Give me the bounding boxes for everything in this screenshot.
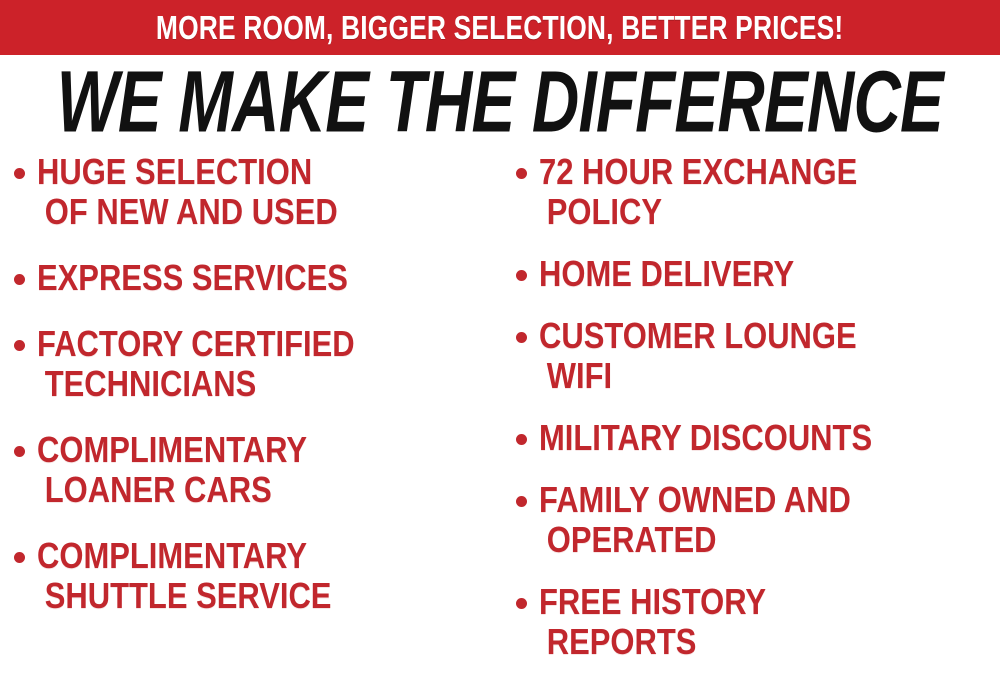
feature-item-text: COMPLIMENTARYLOANER CARS xyxy=(37,430,506,510)
feature-item-line: POLICY xyxy=(539,192,935,232)
feature-item-line: HOME DELIVERY xyxy=(539,254,935,294)
feature-item: 72 HOUR EXCHANGEPOLICY xyxy=(516,152,1000,232)
feature-item-line: COMPLIMENTARY xyxy=(37,430,440,470)
headline-container: WE MAKE THE DIFFERENCE xyxy=(0,60,1000,145)
feature-item-text: MILITARY DISCOUNTS xyxy=(539,418,1000,458)
top-promo-banner: MORE ROOM, BIGGER SELECTION, BETTER PRIC… xyxy=(0,0,1000,55)
feature-item: MILITARY DISCOUNTS xyxy=(516,418,1000,458)
feature-item: EXPRESS SERVICES xyxy=(14,258,506,298)
features-columns: HUGE SELECTIONOF NEW AND USEDEXPRESS SER… xyxy=(0,152,1000,694)
feature-item-line: CUSTOMER LOUNGE xyxy=(539,316,935,356)
feature-item: FACTORY CERTIFIEDTECHNICIANS xyxy=(14,324,506,404)
feature-item: HUGE SELECTIONOF NEW AND USED xyxy=(14,152,506,232)
feature-item-line: FAMILY OWNED AND xyxy=(539,480,935,520)
bullet-dot-icon xyxy=(14,552,25,563)
feature-item-line: REPORTS xyxy=(539,622,935,662)
feature-item-text: EXPRESS SERVICES xyxy=(37,258,506,298)
feature-item-text: FACTORY CERTIFIEDTECHNICIANS xyxy=(37,324,506,404)
feature-item-line: SHUTTLE SERVICE xyxy=(37,576,440,616)
feature-item-text: FAMILY OWNED ANDOPERATED xyxy=(539,480,1000,560)
feature-item: HOME DELIVERY xyxy=(516,254,1000,294)
feature-item: COMPLIMENTARYLOANER CARS xyxy=(14,430,506,510)
feature-item-line: OF NEW AND USED xyxy=(37,192,440,232)
feature-item-line: HUGE SELECTION xyxy=(37,152,440,192)
bullet-dot-icon xyxy=(516,598,527,609)
feature-item-text: FREE HISTORYREPORTS xyxy=(539,582,1000,662)
feature-item-line: MILITARY DISCOUNTS xyxy=(539,418,935,458)
bullet-dot-icon xyxy=(516,434,527,445)
feature-item-text: CUSTOMER LOUNGEWIFI xyxy=(539,316,1000,396)
main-headline: WE MAKE THE DIFFERENCE xyxy=(57,59,943,146)
bullet-dot-icon xyxy=(516,496,527,507)
features-column-left: HUGE SELECTIONOF NEW AND USEDEXPRESS SER… xyxy=(14,152,506,642)
feature-item-line: OPERATED xyxy=(539,520,935,560)
feature-item: FREE HISTORYREPORTS xyxy=(516,582,1000,662)
feature-item-text: HOME DELIVERY xyxy=(539,254,1000,294)
feature-item: CUSTOMER LOUNGEWIFI xyxy=(516,316,1000,396)
feature-item-text: COMPLIMENTARYSHUTTLE SERVICE xyxy=(37,536,506,616)
bullet-dot-icon xyxy=(14,274,25,285)
top-promo-banner-text: MORE ROOM, BIGGER SELECTION, BETTER PRIC… xyxy=(156,11,843,44)
feature-item: COMPLIMENTARYSHUTTLE SERVICE xyxy=(14,536,506,616)
feature-item-line: EXPRESS SERVICES xyxy=(37,258,440,298)
features-column-right: 72 HOUR EXCHANGEPOLICYHOME DELIVERYCUSTO… xyxy=(516,152,1000,684)
feature-item-line: TECHNICIANS xyxy=(37,364,440,404)
feature-item-line: 72 HOUR EXCHANGE xyxy=(539,152,935,192)
bullet-dot-icon xyxy=(516,168,527,179)
bullet-dot-icon xyxy=(14,340,25,351)
bullet-dot-icon xyxy=(14,446,25,457)
feature-item-line: FACTORY CERTIFIED xyxy=(37,324,440,364)
advertisement-banner: MORE ROOM, BIGGER SELECTION, BETTER PRIC… xyxy=(0,0,1000,694)
feature-item: FAMILY OWNED ANDOPERATED xyxy=(516,480,1000,560)
feature-item-text: HUGE SELECTIONOF NEW AND USED xyxy=(37,152,506,232)
feature-item-text: 72 HOUR EXCHANGEPOLICY xyxy=(539,152,1000,232)
feature-item-line: COMPLIMENTARY xyxy=(37,536,440,576)
bullet-dot-icon xyxy=(516,332,527,343)
bullet-dot-icon xyxy=(14,168,25,179)
feature-item-line: FREE HISTORY xyxy=(539,582,935,622)
feature-item-line: LOANER CARS xyxy=(37,470,440,510)
feature-item-line: WIFI xyxy=(539,356,935,396)
bullet-dot-icon xyxy=(516,270,527,281)
